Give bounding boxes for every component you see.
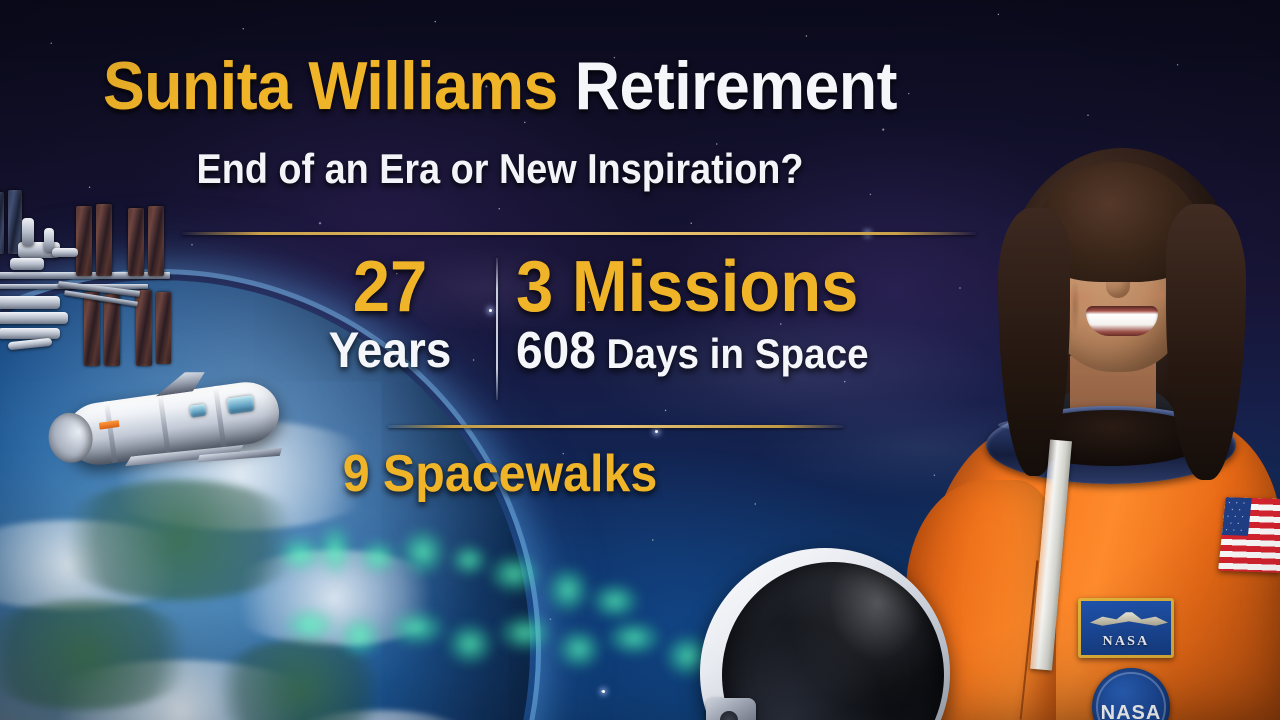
nasa-wings-patch: NASA (1078, 598, 1174, 658)
stat-days-line: 608 Days in Space (516, 323, 939, 380)
page-title: Sunita Williams Retirement (40, 52, 960, 120)
us-flag-patch (1218, 497, 1280, 573)
stats-vertical-divider (496, 258, 498, 400)
wings-icon (1090, 611, 1168, 631)
stats-row: 27 Years 3 Missions 608 Days in Space (0, 252, 1000, 402)
page-title-name: Sunita Williams (103, 48, 558, 124)
stat-years-label: Years (307, 323, 473, 378)
stat-days-label: Days in Space (596, 330, 869, 377)
smile (1086, 306, 1158, 336)
flag-canton (1222, 497, 1252, 536)
stat-missions: 3 Missions 608 Days in Space (516, 252, 976, 380)
poster-canvas: NASA NASA Sunita Williams Retirement End… (0, 0, 1280, 720)
stat-days-number: 608 (516, 322, 596, 380)
nasa-meatball-patch-label: NASA (1092, 702, 1170, 720)
divider-bottom (388, 425, 844, 428)
stat-missions-value: 3 Missions (516, 252, 944, 323)
headline-block: Sunita Williams Retirement End of an Era… (0, 0, 1000, 720)
page-title-topic: Retirement (558, 48, 897, 124)
stat-years: 27 Years (300, 252, 480, 378)
page-subtitle: End of an Era or New Inspiration? (50, 148, 950, 190)
divider-top (182, 232, 976, 235)
stat-years-value: 27 (306, 252, 473, 323)
nasa-wings-patch-label: NASA (1081, 634, 1171, 650)
stat-spacewalks: 9 Spacewalks (35, 448, 965, 500)
